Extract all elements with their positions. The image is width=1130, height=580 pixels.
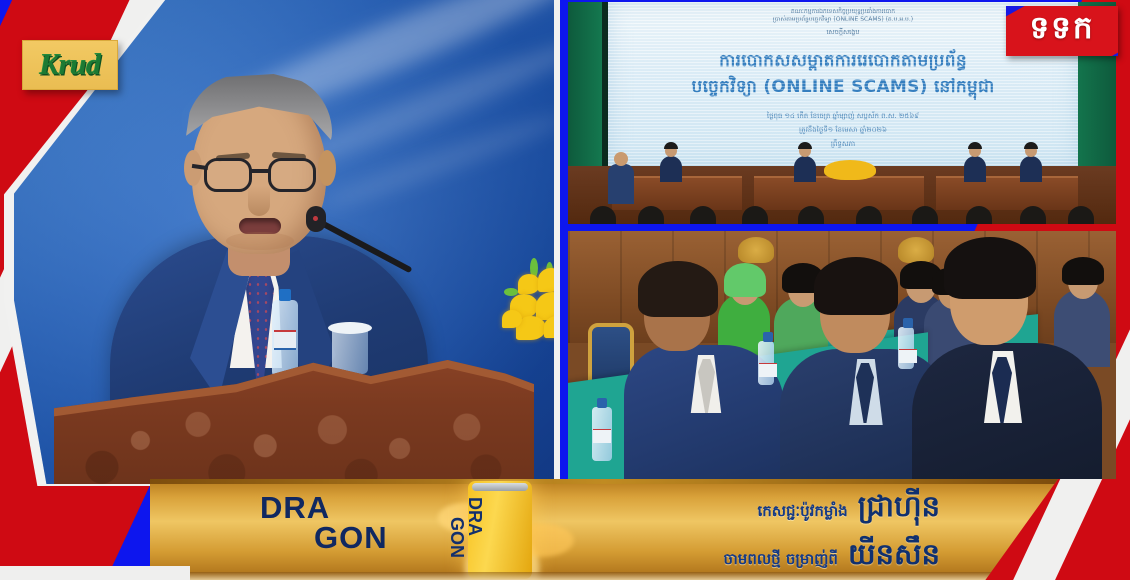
slogan-row1-small: កេសជ្ជៈប៉ូវកម្លាំង — [757, 502, 847, 524]
dragon-ad-banner: DRA GON DRA GON កេសជ្ជៈប៉ូវកម្លាំង ជ្រាហ… — [150, 479, 1058, 580]
lens-right — [268, 158, 316, 192]
lens-left — [204, 158, 252, 192]
attendee-headscarf — [724, 263, 766, 297]
broadcast-frame: Krud គណៈកម្មការឯកទេសកិច្ចប្រយុទ្ធប្រឆាំង… — [0, 0, 1130, 580]
water-bottle — [272, 300, 298, 376]
krud-logo: Krud — [22, 40, 118, 90]
banner-bottom-white-edge — [0, 566, 190, 580]
tv-station-logo-text: ទទក — [1006, 6, 1118, 56]
panelist — [964, 156, 986, 182]
speaker-nose — [248, 186, 270, 216]
dragon-wordmark-line1: DRA — [260, 493, 388, 523]
dragon-wordmark-line2: GON — [314, 523, 388, 553]
delegate-center-hair — [814, 257, 898, 315]
screen-title-line2: បច្ចេកវិទ្យា (ONLINE SCAMS) នៅកម្ពុជា — [608, 76, 1078, 101]
dragon-slogan-row1: កេសជ្ជៈប៉ូវកម្លាំង ជ្រាហ៊ីន — [724, 489, 940, 531]
can-wordmark-line1: DRA — [466, 497, 484, 580]
panelist — [660, 156, 682, 182]
water-bottle — [898, 327, 914, 369]
speaker-chin — [226, 232, 294, 250]
slogan-row1-big: ជ្រាហ៊ីន — [858, 489, 940, 531]
glasses-bridge — [250, 169, 270, 173]
delegate-left-hair — [638, 261, 718, 317]
audience-row — [568, 202, 1116, 224]
tv-station-logo: ទទក — [1006, 6, 1118, 56]
krud-logo-text: Krud — [39, 48, 100, 82]
can-lid — [472, 483, 528, 491]
speaker-ear-right — [318, 150, 336, 186]
can-wordmark: DRA GON — [420, 497, 484, 580]
dragon-wordmark: DRA GON — [260, 493, 388, 553]
panelist-chairman — [794, 156, 816, 182]
microphone-icon — [306, 206, 326, 232]
stage-flower-arrangement — [824, 160, 876, 180]
dragon-can-image: DRA GON — [468, 481, 532, 579]
screen-date-line1: ថ្ងៃពុធ ១៤ កើត ខែចេត្រ ឆ្នាំម្សាញ់ សប្តស… — [608, 112, 1078, 122]
delegate-right-hair — [944, 237, 1036, 299]
delegates-photo — [568, 231, 1116, 479]
standing-speaker — [608, 164, 634, 204]
dragon-slogan: កេសជ្ជៈប៉ូវកម្លាំង ជ្រាហ៊ីន ចាមពលថ្មី ចម… — [724, 489, 940, 579]
water-bottle — [592, 407, 612, 461]
dragon-slogan-row2: ចាមពលថ្មី ចម្រាញ់ពី យីនសឹន — [724, 537, 940, 579]
panelist — [1020, 156, 1042, 182]
gold-wall-ornament — [738, 237, 774, 263]
water-glass — [332, 328, 368, 374]
can-wordmark-line2: GON — [448, 517, 466, 580]
slogan-row2-big: យីនសឹន — [848, 537, 940, 579]
water-bottle — [758, 341, 774, 385]
slogan-row2-small: ចាមពលថ្មី ចម្រាញ់ពី — [724, 550, 838, 572]
screen-date-line2: ត្រូវនឹងថ្ងៃទី១ ខែមេសា ឆ្នាំ២០២៦ — [608, 126, 1078, 136]
attendee-hair — [1062, 257, 1104, 285]
screen-date-line3: ព្រឹទ្ធសភា — [608, 140, 1078, 150]
flower-arrangement — [500, 258, 554, 362]
gold-wall-ornament — [898, 237, 934, 263]
